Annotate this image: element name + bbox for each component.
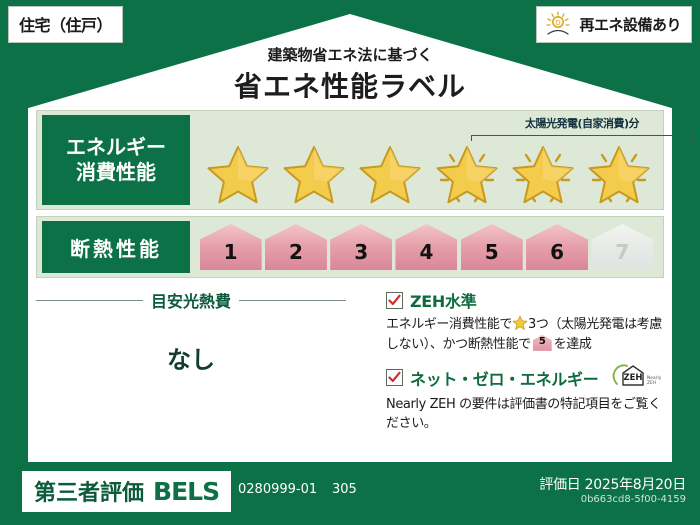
heading-rule-right xyxy=(239,300,346,301)
star-icon-solar xyxy=(432,139,502,205)
insulation-performance-panel: 断熱性能 1 2 3 4 5 6 7 xyxy=(36,216,664,278)
evaluation-date-label: 評価日 xyxy=(539,477,580,493)
label-subtitle: 建築物省エネ法に基づく xyxy=(0,44,700,65)
heading-rule-left xyxy=(36,300,143,301)
claim-net-zero-energy: ネット・ゼロ・エネルギー ZEH Nearly ZEH Nearly ZEH の… xyxy=(386,363,664,434)
zeh-logo-icon: ZEH Nearly ZEH xyxy=(609,363,665,393)
zeh-body-post: を達成 xyxy=(554,337,592,352)
zeh-standard-checkbox[interactable] xyxy=(386,292,403,309)
bels-jp-label: 第三者評価 xyxy=(34,475,144,507)
energy-key-line1: エネルギー xyxy=(66,135,166,160)
insulation-level-7: 7 xyxy=(591,224,653,270)
bels-logo-box: 第三者評価 BELS xyxy=(22,471,231,512)
energy-performance-key: エネルギー 消費性能 xyxy=(42,115,190,205)
insulation-performance-key: 断熱性能 xyxy=(42,221,190,273)
bels-number: 0280999-01 xyxy=(238,482,317,497)
net-zero-checkbox[interactable] xyxy=(386,369,403,386)
insulation-level-number: 7 xyxy=(615,240,629,270)
utility-cost-heading: 目安光熱費 xyxy=(36,288,346,312)
insulation-performance-value: 1 2 3 4 5 6 7 xyxy=(190,217,663,277)
insulation-level-6: 6 xyxy=(526,224,588,270)
renewable-equipment-badge: D 再エネ設備あり xyxy=(536,6,692,43)
insulation-level-number: 4 xyxy=(420,240,434,270)
star-icon xyxy=(355,139,425,205)
solar-generation-bracket: 太陽光発電(自家消費)分 xyxy=(471,115,693,141)
bels-unit-number: 305 xyxy=(332,482,357,497)
building-type-tag: 住宅（住戸） xyxy=(8,6,123,43)
insulation-level-4: 4 xyxy=(395,224,457,270)
insulation-badge-icon: 5 xyxy=(533,335,552,351)
solar-bracket-label: 太陽光発電(自家消費)分 xyxy=(471,115,693,131)
claim-net-zero-head: ネット・ゼロ・エネルギー ZEH Nearly ZEH xyxy=(386,363,664,393)
energy-performance-value: 太陽光発電(自家消費)分 xyxy=(190,111,663,209)
claims-block: ZEH水準 エネルギー消費性能で 3つ（太陽光発電は考慮しない）、かつ断熱性能で… xyxy=(386,288,664,441)
check-icon xyxy=(388,371,401,384)
utility-cost-block: 目安光熱費 なし xyxy=(36,288,346,375)
energy-performance-panel: エネルギー 消費性能 太陽光発電(自家消費)分 xyxy=(36,110,664,210)
insulation-level-number: 2 xyxy=(289,240,303,270)
zeh-standard-body: エネルギー消費性能で 3つ（太陽光発電は考慮しない）、かつ断熱性能で 5 を達成 xyxy=(386,315,664,355)
evaluation-date-value: 2025年8月20日 xyxy=(585,477,686,493)
insulation-level-number: 3 xyxy=(354,240,368,270)
claim-zeh-standard-head: ZEH水準 xyxy=(386,288,664,312)
insulation-level-3: 3 xyxy=(330,224,392,270)
evaluation-date: 評価日 2025年8月20日 xyxy=(539,474,686,494)
svg-text:ZEH: ZEH xyxy=(647,380,656,386)
insulation-level-1: 1 xyxy=(200,224,262,270)
net-zero-title: ネット・ゼロ・エネルギー xyxy=(410,366,598,390)
star-icon xyxy=(203,139,273,205)
zeh-standard-title: ZEH水準 xyxy=(410,288,476,312)
insulation-level-2: 2 xyxy=(265,224,327,270)
svg-text:D: D xyxy=(556,19,561,27)
insulation-level-row: 1 2 3 4 5 6 7 xyxy=(198,224,655,270)
bels-en-label: BELS xyxy=(153,477,219,506)
svg-text:ZEH: ZEH xyxy=(624,373,643,383)
energy-star-rating xyxy=(200,139,657,205)
insulation-level-5: 5 xyxy=(461,224,523,270)
renewable-badge-label: 再エネ設備あり xyxy=(579,14,681,35)
sun-icon: D xyxy=(543,11,573,37)
insulation-level-number: 1 xyxy=(224,240,238,270)
utility-cost-label: 目安光熱費 xyxy=(151,288,231,312)
star-icon xyxy=(279,139,349,205)
star-icon xyxy=(512,315,528,331)
insulation-badge-number: 5 xyxy=(533,335,552,351)
insulation-level-number: 6 xyxy=(550,240,564,270)
star-icon-solar xyxy=(584,139,654,205)
footer-bar: 第三者評価 BELS 0280999-01 305 評価日 2025年8月20日… xyxy=(0,462,700,525)
evaluation-id: 0b663cd8-5f00-4159 xyxy=(581,494,686,505)
energy-key-line2: 消費性能 xyxy=(76,160,156,185)
label-title: 省エネ性能ラベル xyxy=(0,65,700,105)
check-icon xyxy=(388,294,401,307)
star-icon-solar xyxy=(508,139,578,205)
zeh-body-pre: エネルギー消費性能で xyxy=(386,317,512,332)
utility-cost-value: なし xyxy=(36,340,346,375)
insulation-level-number: 5 xyxy=(485,240,499,270)
net-zero-body: Nearly ZEH の要件は評価書の特記項目をご覧ください。 xyxy=(386,396,664,434)
claim-zeh-standard: ZEH水準 エネルギー消費性能で 3つ（太陽光発電は考慮しない）、かつ断熱性能で… xyxy=(386,288,664,355)
energy-performance-label: 住宅（住戸） D 再エネ設備あり 建築物省エネ法に基づく 省エネ性 xyxy=(0,0,700,525)
